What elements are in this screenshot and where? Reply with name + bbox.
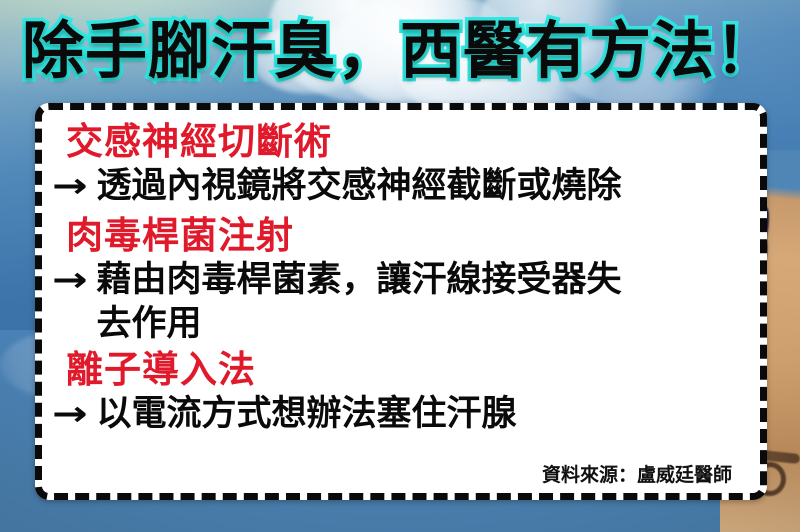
- treatment-heading-3: 離子導入法: [52, 348, 750, 392]
- treatment-detail-row-1: → 透過內視鏡將交感神經截斷或燒除: [52, 164, 750, 208]
- treatment-heading-2: 肉毒桿菌注射: [52, 214, 750, 258]
- treatment-detail-2: 藉由肉毒桿菌素，讓汗線接受器失 去作用: [97, 258, 751, 346]
- treatment-item-3: 離子導入法 → 以電流方式想辦法塞住汗腺: [52, 348, 750, 436]
- treatment-heading-1: 交感神經切斷術: [52, 120, 750, 164]
- treatment-detail-row-3: → 以電流方式想辦法塞住汗腺: [52, 392, 750, 436]
- infographic-poster: 除手腳汗臭，西醫有方法！ 交感神經切斷術 → 透過內視鏡將交感神經截斷或燒除 肉…: [0, 0, 800, 532]
- treatment-detail-1: 透過內視鏡將交感神經截斷或燒除: [97, 164, 751, 208]
- treatment-item-2: 肉毒桿菌注射 → 藉由肉毒桿菌素，讓汗線接受器失 去作用: [52, 214, 750, 346]
- content-card: 交感神經切斷術 → 透過內視鏡將交感神經截斷或燒除 肉毒桿菌注射 → 藉由肉毒桿…: [35, 103, 767, 500]
- arrow-right-icon: →: [52, 392, 98, 436]
- arrow-right-icon: →: [52, 164, 98, 208]
- source-credit: 資料來源：盧威廷醫師: [542, 463, 732, 487]
- content-card-body: 交感神經切斷術 → 透過內視鏡將交感神經截斷或燒除 肉毒桿菌注射 → 藉由肉毒桿…: [52, 114, 750, 489]
- treatment-detail-3: 以電流方式想辦法塞住汗腺: [97, 392, 751, 436]
- treatment-detail-row-2: → 藉由肉毒桿菌素，讓汗線接受器失 去作用: [52, 258, 750, 346]
- treatment-item-1: 交感神經切斷術 → 透過內視鏡將交感神經截斷或燒除: [52, 120, 750, 208]
- arrow-right-icon: →: [52, 258, 98, 302]
- poster-title: 除手腳汗臭，西醫有方法！: [0, 8, 800, 94]
